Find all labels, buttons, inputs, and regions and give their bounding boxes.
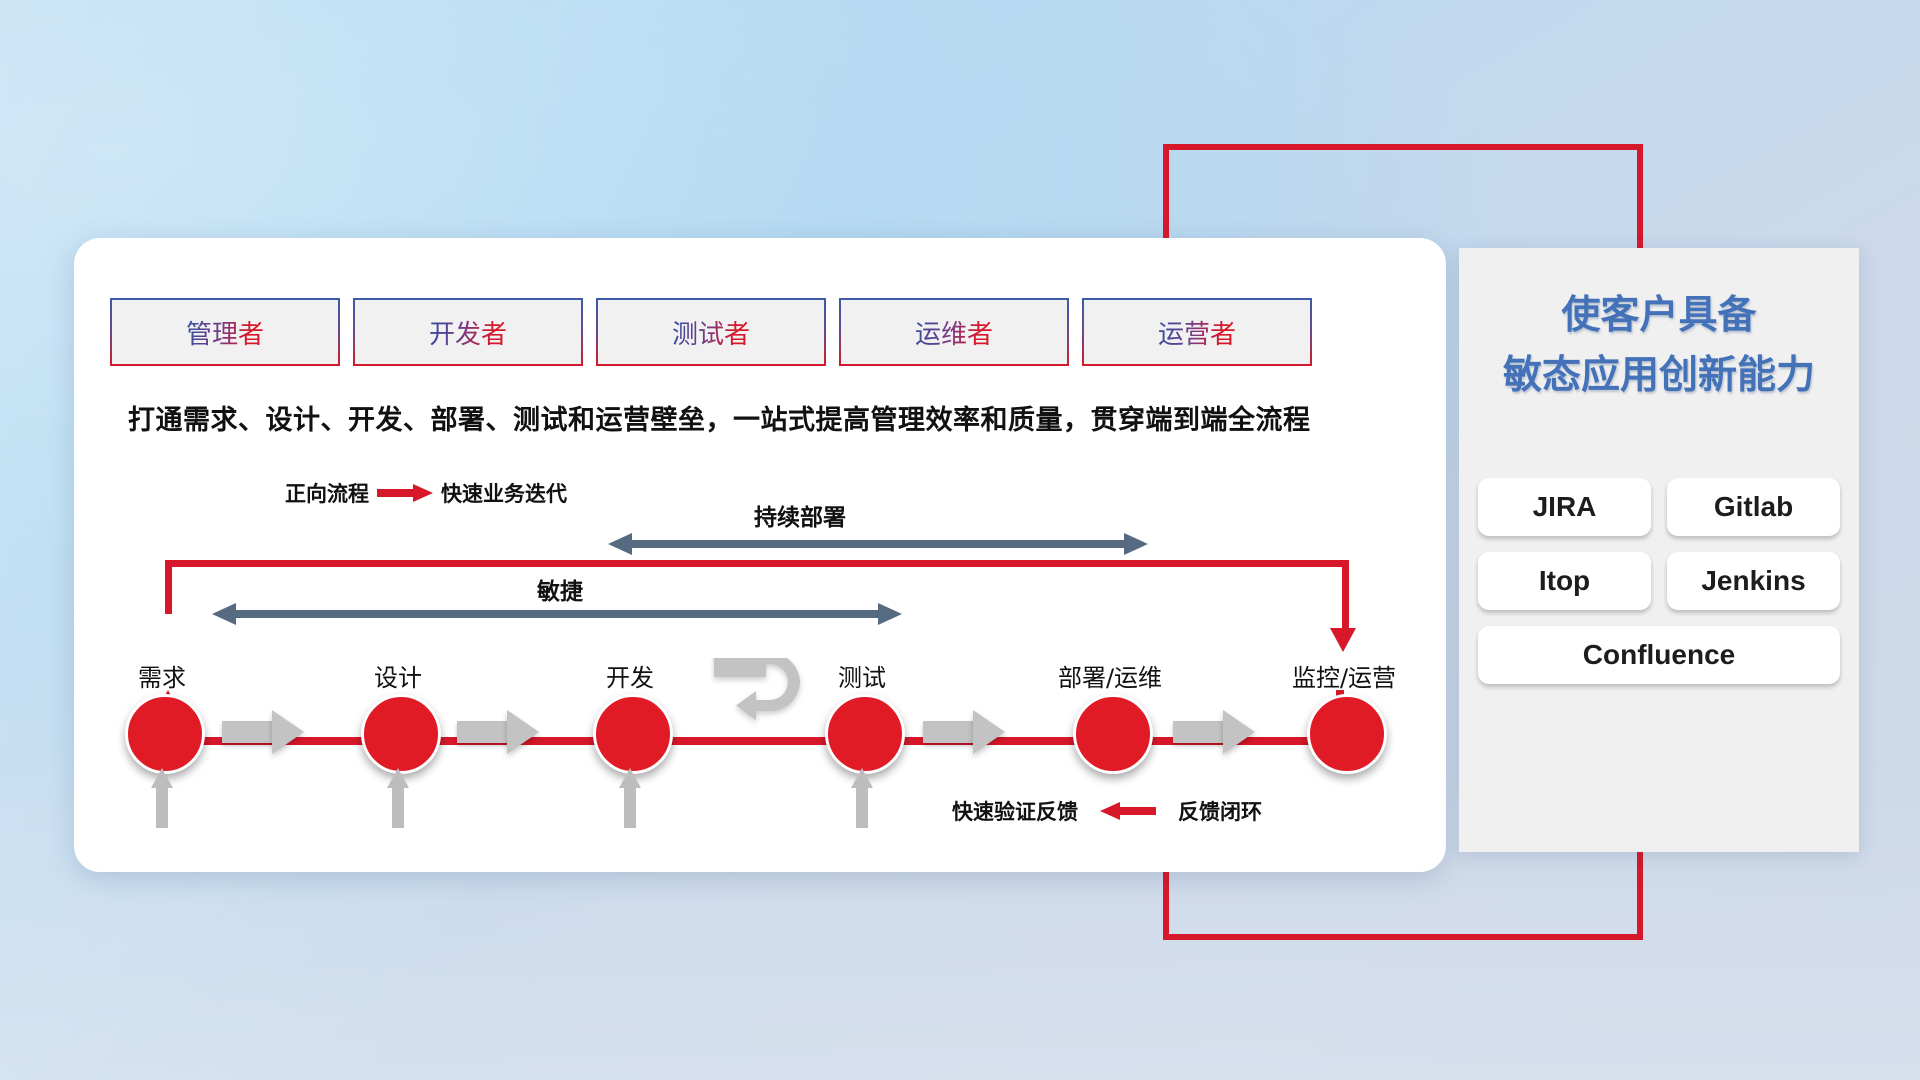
- arrow-right-red-icon: [377, 484, 433, 502]
- feedback-loop-label: 反馈闭环: [1178, 796, 1262, 826]
- pipeline-node-requirements[interactable]: [125, 694, 205, 774]
- agile-arrow: [212, 603, 902, 625]
- tools-grid: JIRA Gitlab Itop Jenkins Confluence: [1478, 478, 1840, 684]
- tool-button-gitlab[interactable]: Gitlab: [1667, 478, 1840, 536]
- role-box-operations[interactable]: 运营者: [1082, 298, 1312, 366]
- pipeline-node-monitor-operations[interactable]: [1307, 694, 1387, 774]
- feedback-up-arrow-icon: [851, 768, 873, 828]
- role-box-ops[interactable]: 运维者: [839, 298, 1069, 366]
- pipeline-label-test: 测试: [838, 658, 886, 693]
- tool-button-jira[interactable]: JIRA: [1478, 478, 1651, 536]
- feedback-loop-top-line: [165, 560, 1349, 567]
- panel-title: 使客户具备 敏态应用创新能力: [1459, 286, 1859, 407]
- forward-arrow-icon: [222, 710, 304, 754]
- pipeline-node-deploy-ops[interactable]: [1073, 694, 1153, 774]
- continuous-deployment-label: 持续部署: [754, 498, 846, 532]
- fast-validation-label: 快速验证反馈: [952, 796, 1078, 826]
- forward-flow-label: 正向流程: [285, 478, 369, 508]
- continuous-deployment-arrow: [608, 533, 1148, 555]
- feedback-loop-right-line: [1342, 560, 1349, 636]
- role-box-row: 管理者 开发者 测试者 运维者 运营者: [110, 298, 1312, 368]
- panel-title-line1: 使客户具备: [1459, 286, 1859, 346]
- role-label: 运营者: [1158, 314, 1236, 351]
- headline-text: 打通需求、设计、开发、部署、测试和运营壁垒，一站式提高管理效率和质量，贯穿端到端…: [128, 398, 1428, 437]
- pipeline-label-requirements: 需求: [138, 658, 186, 693]
- tool-button-jenkins[interactable]: Jenkins: [1667, 552, 1840, 610]
- pipeline-node-design[interactable]: [361, 694, 441, 774]
- role-box-manager[interactable]: 管理者: [110, 298, 340, 366]
- pipeline-label-monitor-operations: 监控/运营: [1292, 658, 1396, 693]
- pipeline-node-develop[interactable]: [593, 694, 673, 774]
- forward-arrow-icon: [457, 710, 539, 754]
- u-turn-loop-icon: [710, 658, 806, 732]
- panel-title-line2: 敏态应用创新能力: [1459, 346, 1859, 406]
- forward-arrow-icon: [923, 710, 1005, 754]
- role-label: 测试者: [672, 314, 750, 351]
- feedback-up-arrow-icon: [151, 768, 173, 828]
- feedback-legend: 快速验证反馈 反馈闭环: [952, 796, 1262, 826]
- forward-flow-legend: 正向流程 快速业务迭代: [285, 478, 567, 508]
- role-label: 运维者: [915, 314, 993, 351]
- feedback-loop-arrowhead-down-icon: [1330, 628, 1356, 652]
- role-label: 管理者: [186, 314, 264, 351]
- agile-label: 敏捷: [537, 572, 583, 606]
- fast-iteration-label: 快速业务迭代: [441, 478, 567, 508]
- tool-button-confluence[interactable]: Confluence: [1478, 626, 1840, 684]
- pipeline-label-develop: 开发: [606, 658, 654, 693]
- feedback-up-arrow-icon: [387, 768, 409, 828]
- arrow-left-red-icon: [1100, 802, 1156, 820]
- feedback-up-arrow-icon: [619, 768, 641, 828]
- tool-button-itop[interactable]: Itop: [1478, 552, 1651, 610]
- forward-arrow-icon: [1173, 710, 1255, 754]
- role-label: 开发者: [429, 314, 507, 351]
- pipeline-label-deploy-ops: 部署/运维: [1058, 658, 1162, 693]
- role-box-tester[interactable]: 测试者: [596, 298, 826, 366]
- feedback-loop-left-line: [165, 560, 172, 614]
- pipeline-label-design: 设计: [374, 658, 422, 693]
- pipeline-node-test[interactable]: [825, 694, 905, 774]
- role-box-developer[interactable]: 开发者: [353, 298, 583, 366]
